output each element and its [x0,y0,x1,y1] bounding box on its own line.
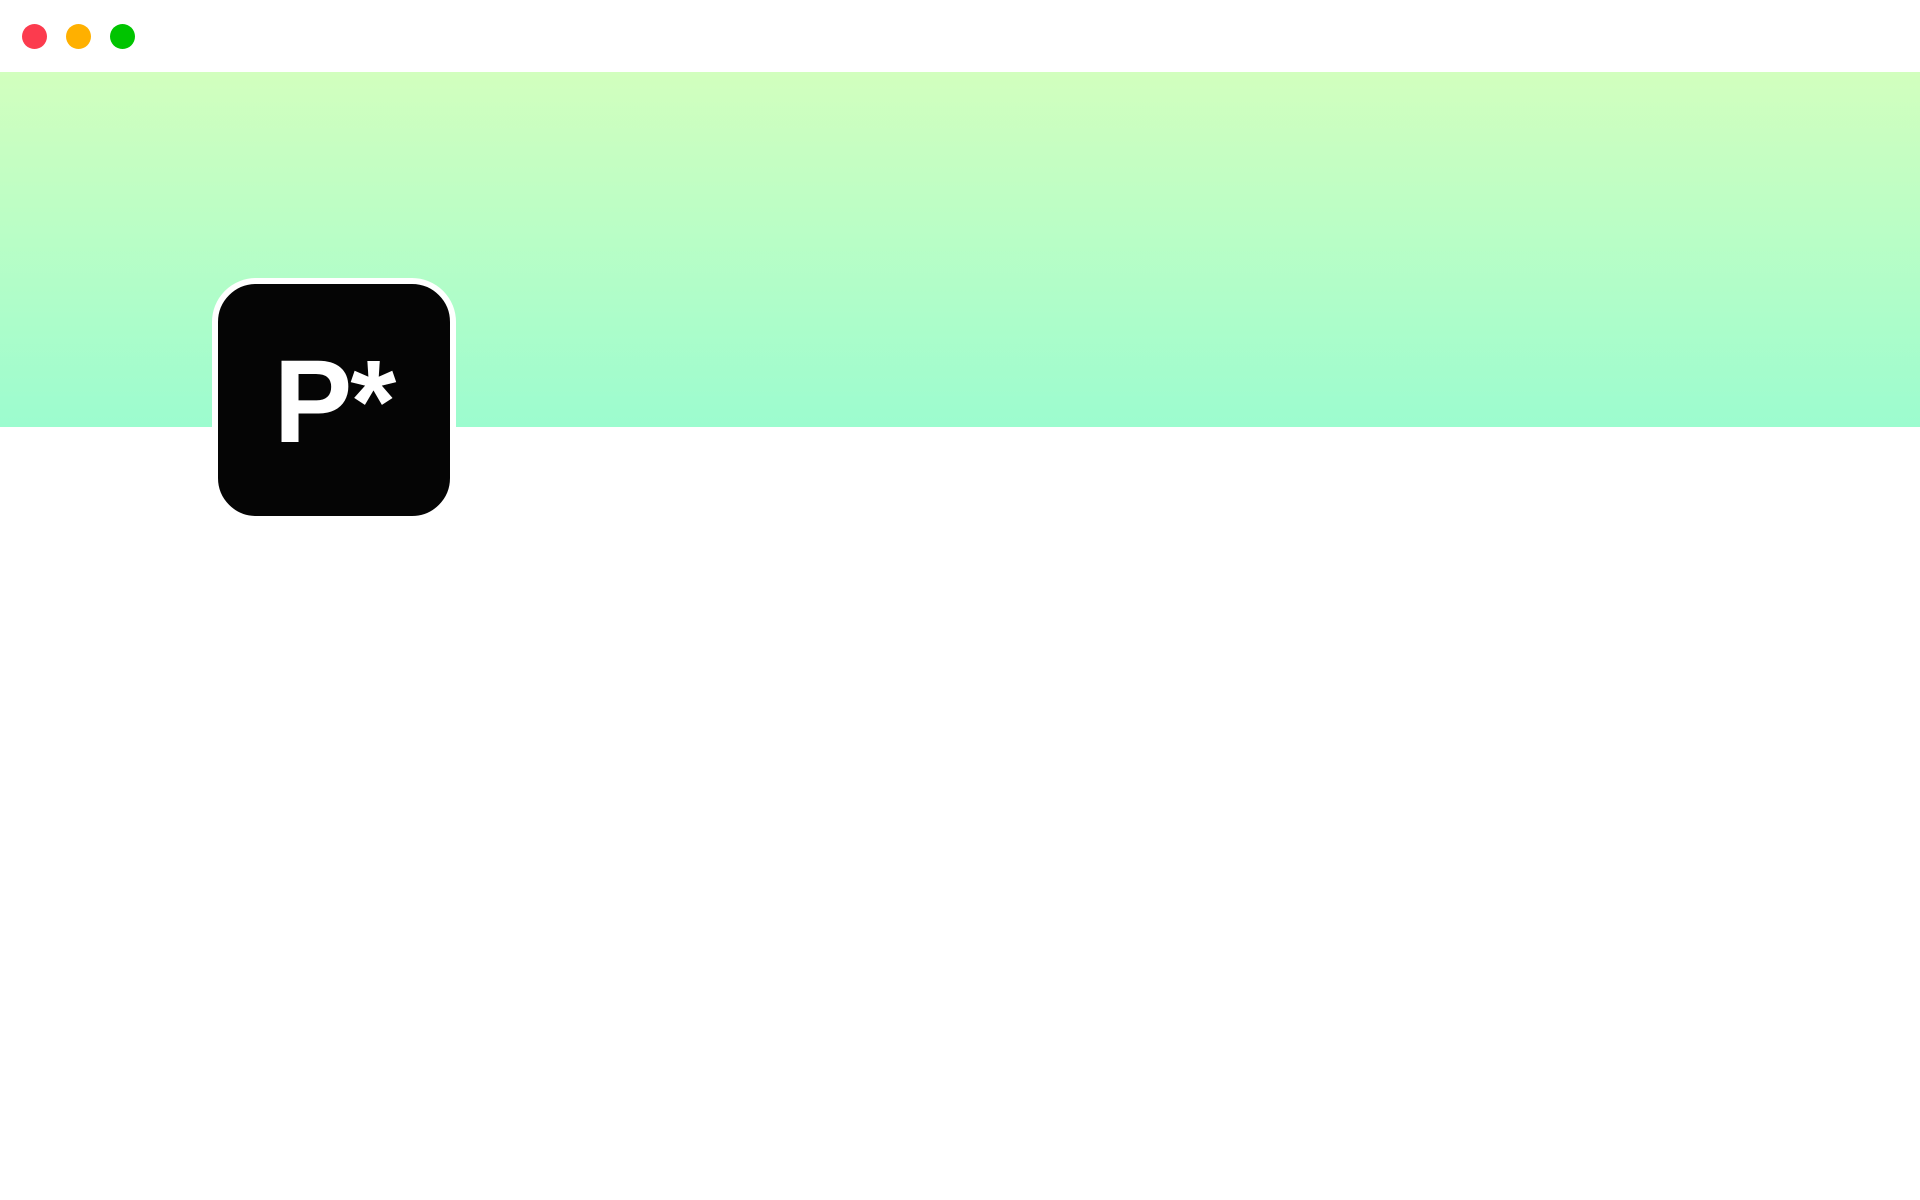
minimize-button[interactable] [66,24,91,49]
maximize-button[interactable] [110,24,135,49]
close-button[interactable] [22,24,47,49]
window-traffic-lights [22,24,135,49]
page-icon-glyph: P* [274,343,395,461]
app-window: P* PRCSS* Project Template [MVP] 🕹️ Proj… [0,0,1920,1200]
prcss-logo-icon[interactable]: P* [212,278,456,522]
page-body [0,427,1920,1200]
window-titlebar [0,0,1920,72]
page-icon[interactable]: P* [212,278,456,522]
